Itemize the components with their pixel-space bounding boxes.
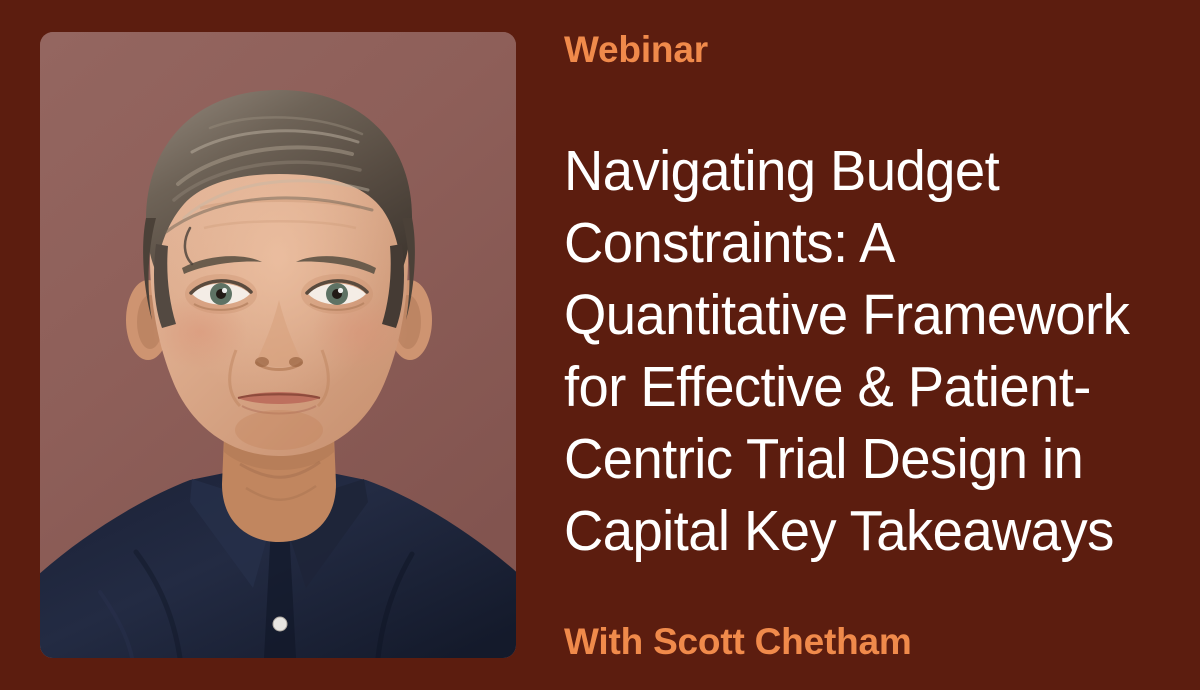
speaker-label: With Scott Chetham: [564, 622, 912, 663]
eyebrow-label: Webinar: [564, 30, 708, 71]
speaker-portrait-illustration: [40, 32, 516, 658]
page-title: Navigating Budget Constraints: A Quantit…: [564, 135, 1168, 567]
speaker-photo: [40, 32, 516, 658]
content-column: Webinar Navigating Budget Constraints: A…: [564, 0, 1196, 690]
webinar-promo-card: Webinar Navigating Budget Constraints: A…: [0, 0, 1200, 690]
